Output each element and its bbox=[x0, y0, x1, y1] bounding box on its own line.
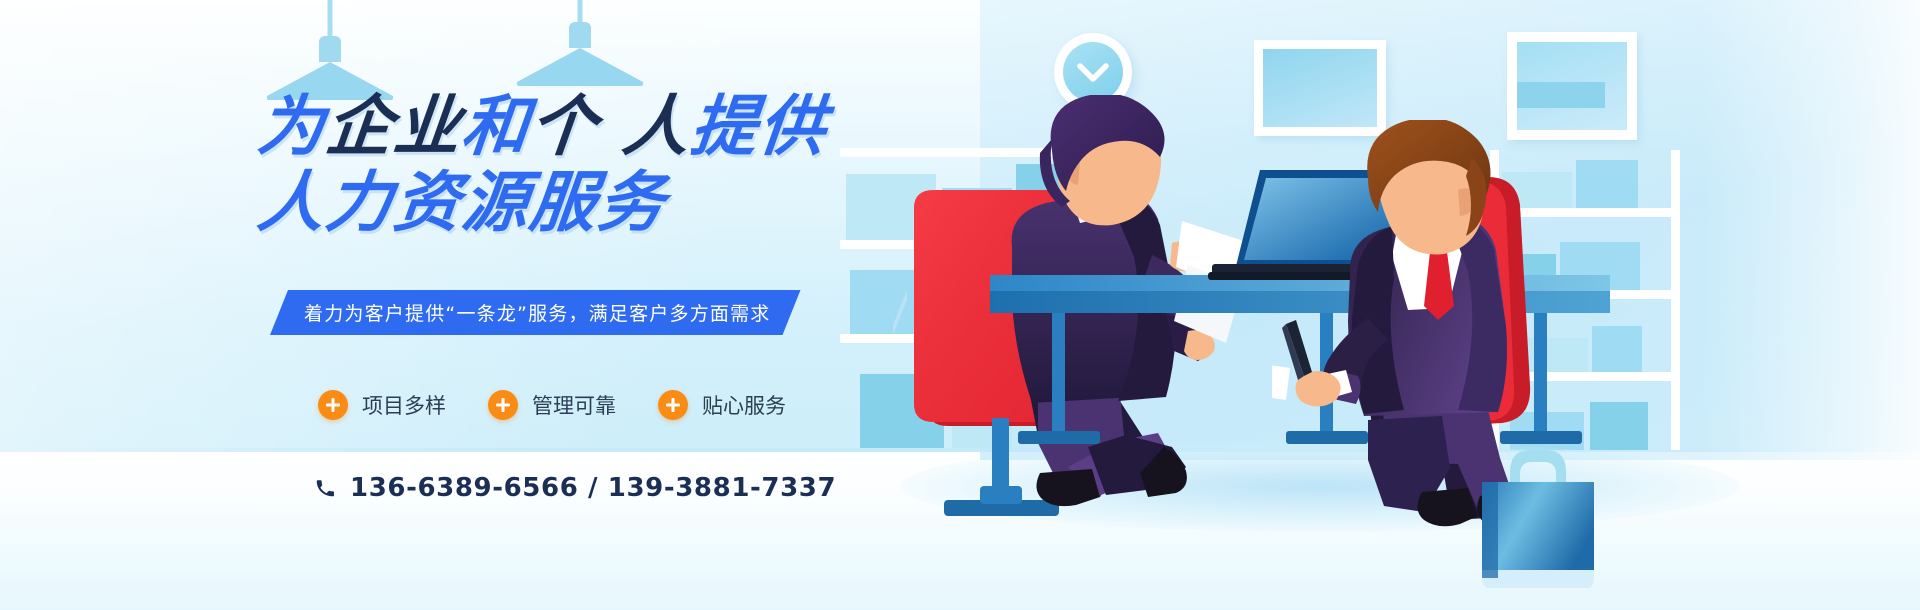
headline-seg-1: 为 bbox=[254, 88, 330, 165]
contact-phone[interactable]: 136-6389-6566 / 139-3881-7337 bbox=[314, 473, 836, 503]
plus-icon bbox=[488, 390, 518, 420]
feature-list: 项目多样 管理可靠 贴心服务 bbox=[318, 390, 786, 420]
phone-icon bbox=[314, 477, 336, 499]
headline-line-1: 为企业和个 人提供 bbox=[255, 94, 831, 160]
feature-label: 管理可靠 bbox=[532, 390, 616, 420]
phone-number: 136-6389-6566 / 139-3881-7337 bbox=[350, 473, 836, 503]
subtitle-banner: 着力为客户提供“一条龙”服务，满足客户多方面需求 bbox=[270, 290, 801, 335]
feature-label: 项目多样 bbox=[362, 390, 446, 420]
headline-line-2: 人力资源服务 bbox=[255, 170, 831, 236]
headline-seg-4: 个 人 bbox=[526, 88, 695, 165]
wall-right-light bbox=[1700, 0, 1920, 460]
feature-item-3[interactable]: 贴心服务 bbox=[658, 390, 786, 420]
plus-icon bbox=[658, 390, 688, 420]
briefcase bbox=[1472, 438, 1602, 588]
headline-seg-5: 提供 bbox=[687, 88, 831, 165]
hero-banner: 为企业和个 人提供 人力资源服务 着力为客户提供“一条龙”服务，满足客户多方面需… bbox=[0, 0, 1920, 610]
page-title: 为企业和个 人提供 人力资源服务 bbox=[258, 94, 827, 236]
headline-seg-2: 企业 bbox=[322, 88, 466, 165]
feature-item-2[interactable]: 管理可靠 bbox=[488, 390, 616, 420]
subtitle-text: 着力为客户提供“一条龙”服务，满足客户多方面需求 bbox=[304, 299, 771, 326]
hero-copy: 为企业和个 人提供 人力资源服务 着力为客户提供“一条龙”服务，满足客户多方面需… bbox=[0, 0, 900, 610]
plus-icon bbox=[318, 390, 348, 420]
headline-seg-3: 和 bbox=[458, 88, 534, 165]
feature-item-1[interactable]: 项目多样 bbox=[318, 390, 446, 420]
feature-label: 贴心服务 bbox=[702, 390, 786, 420]
office-illustration bbox=[980, 0, 1920, 610]
